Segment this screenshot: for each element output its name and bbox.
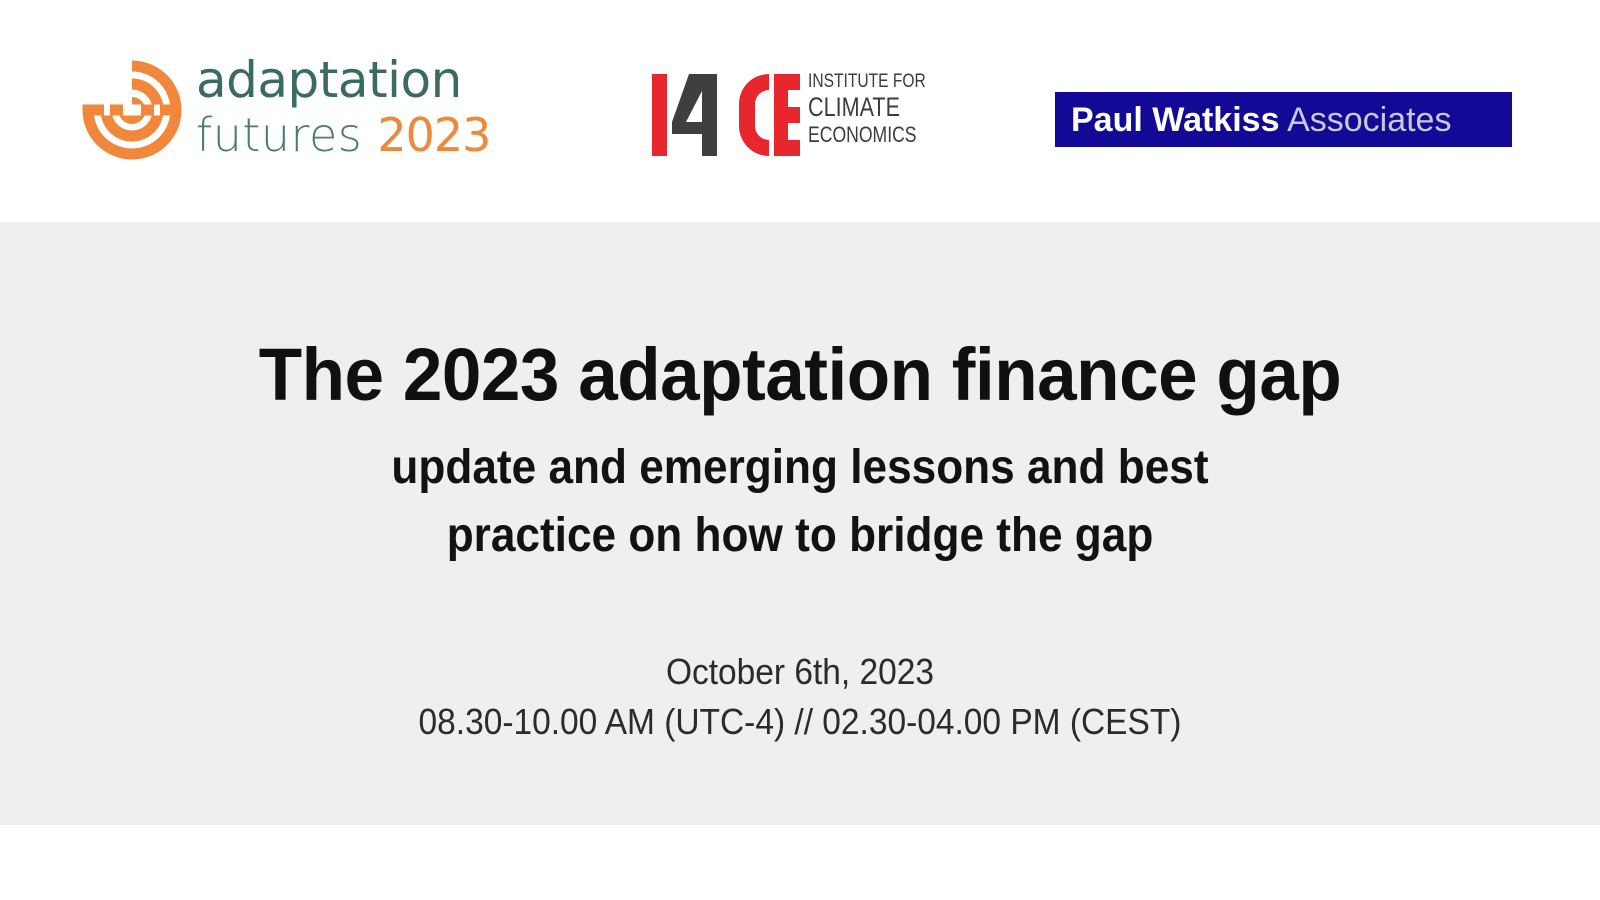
slide-content-panel: The 2023 adaptation finance gap update a… — [0, 222, 1600, 825]
page-subtitle-line2: practice on how to bridge the gap — [64, 502, 1536, 570]
concentric-ripple-icon — [78, 56, 186, 164]
i4ce-lettermark-icon — [650, 72, 802, 158]
af-wordmark-line1: adaptation — [196, 52, 516, 108]
sponsor-logo-band: adaptation futures 2023 INSTITUTE FOR — [0, 0, 1600, 222]
adaptation-futures-wordmark: adaptation futures 2023 — [196, 52, 516, 170]
event-details: October 6th, 2023 08.30-10.00 AM (UTC-4)… — [0, 647, 1600, 747]
af-futures-text: futures — [196, 108, 362, 162]
adaptation-futures-logo: adaptation futures 2023 — [78, 52, 518, 170]
event-date: October 6th, 2023 — [56, 647, 1544, 697]
paul-watkiss-light-text: Associates — [1287, 101, 1451, 139]
event-time: 08.30-10.00 AM (UTC-4) // 02.30-04.00 PM… — [56, 697, 1544, 747]
slide-footer-margin — [0, 825, 1600, 900]
page-title: The 2023 adaptation finance gap — [32, 332, 1568, 418]
paul-watkiss-bold-text: Paul Watkiss — [1071, 101, 1279, 139]
paul-watkiss-wordmark: Paul Watkiss Associates — [1071, 101, 1451, 139]
title-block: The 2023 adaptation finance gap update a… — [0, 332, 1600, 570]
page-subtitle-line1: update and emerging lessons and best — [64, 434, 1536, 502]
paul-watkiss-associates-logo: Paul Watkiss Associates — [1055, 92, 1512, 147]
i4ce-tagline-line2: CLIMATE — [808, 93, 922, 122]
i4ce-tagline-line3: ECONOMICS — [808, 122, 922, 148]
i4ce-tagline: INSTITUTE FOR CLIMATE ECONOMICS — [808, 71, 950, 148]
i4ce-logo: INSTITUTE FOR CLIMATE ECONOMICS — [650, 72, 950, 164]
presentation-slide: adaptation futures 2023 INSTITUTE FOR — [0, 0, 1600, 900]
af-wordmark-line2: futures 2023 — [196, 108, 516, 162]
page-subtitle: update and emerging lessons and best pra… — [64, 434, 1536, 570]
i4ce-tagline-line1: INSTITUTE FOR — [808, 71, 924, 93]
af-year-text: 2023 — [377, 108, 490, 162]
